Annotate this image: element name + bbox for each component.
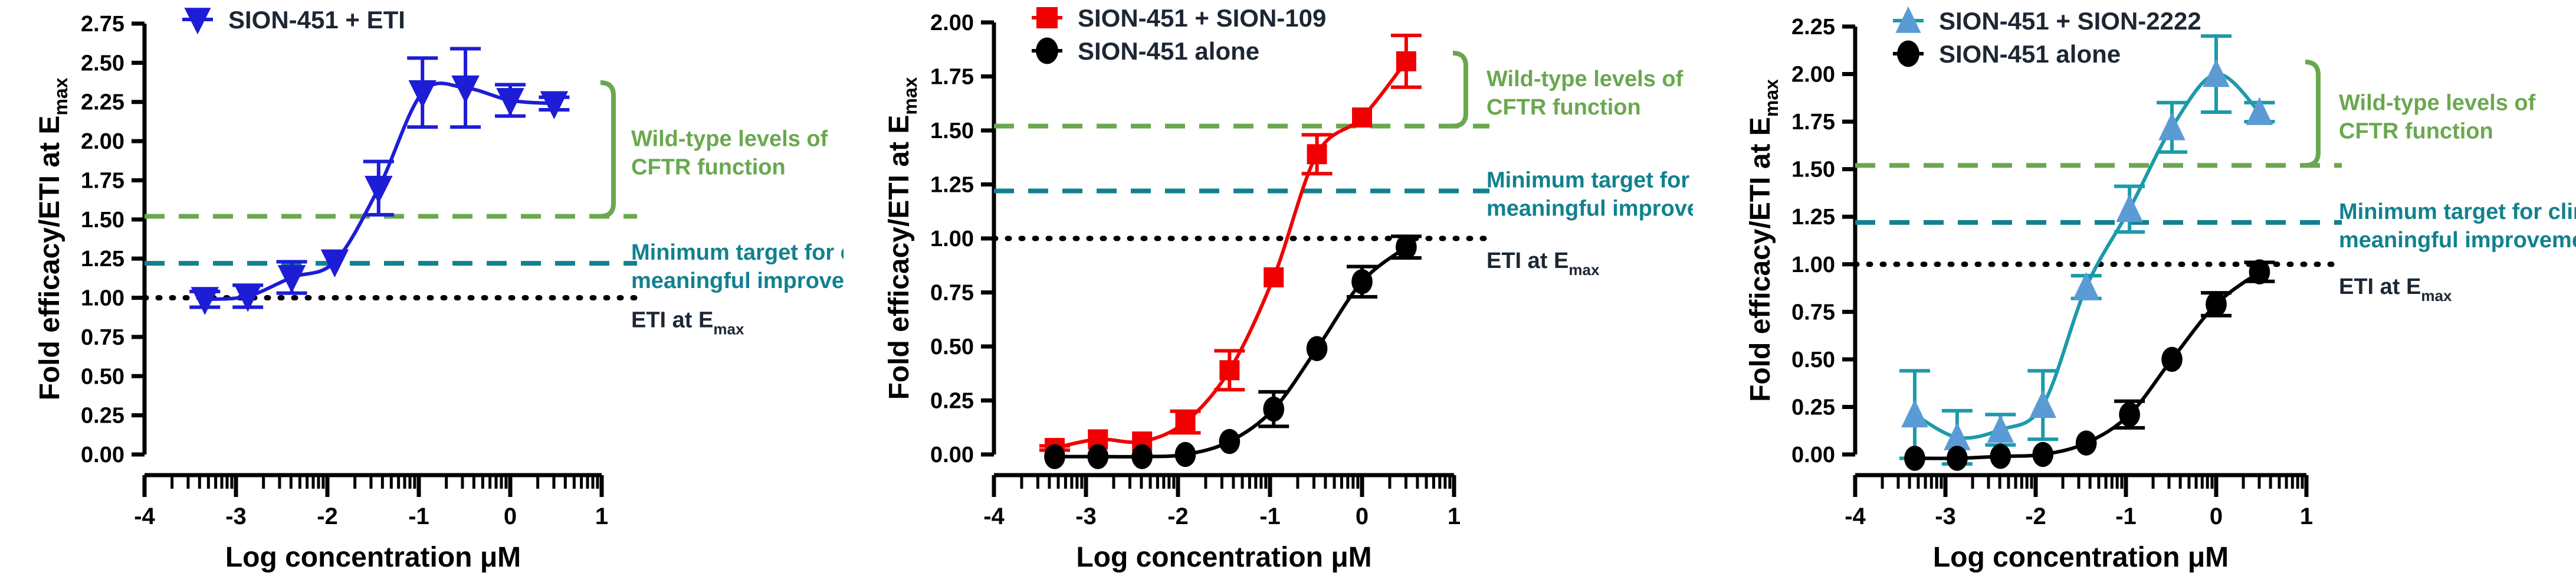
- annotation-eti-label: ETI at Emax: [2339, 274, 2452, 305]
- legend: SION-451 + SION-109SION-451 alone: [1032, 4, 1326, 65]
- y-tick-label: 1.00: [1791, 253, 1835, 277]
- annotation-eti-label: ETI at Emax: [631, 308, 744, 338]
- x-tick-label: -3: [225, 503, 247, 529]
- wildtype-bracket: [1453, 53, 1466, 126]
- y-tick-label: 2.00: [81, 129, 124, 154]
- y-tick-label: 1.75: [81, 168, 124, 193]
- annotation-eti-label: ETI at Emax: [1486, 248, 1600, 279]
- x-tick-label: 1: [595, 503, 608, 529]
- data-point: [1263, 397, 1284, 422]
- data-point: [365, 176, 393, 204]
- legend-label: SION-451 + SION-109: [1078, 4, 1326, 32]
- data-point: [1990, 444, 2011, 469]
- y-tick-label: 2.25: [81, 90, 124, 115]
- x-tick-label: -4: [1845, 503, 1866, 529]
- data-point: [2158, 112, 2186, 140]
- annotation-mintarget-line2: meaningful improvement to SoC: [2339, 228, 2576, 253]
- data-point: [278, 265, 306, 293]
- y-tick-label: 0.00: [1791, 443, 1835, 467]
- x-tick-label: -1: [2115, 503, 2137, 529]
- x-tick-label: -2: [2025, 503, 2046, 529]
- svg-text:Fold efficacy/ETI at Emax: Fold efficacy/ETI at Emax: [884, 77, 921, 400]
- annotation-wildtype-line2: CFTR function: [1486, 95, 1641, 120]
- y-tick-label: 0.25: [930, 389, 974, 414]
- data-point: [408, 80, 437, 109]
- y-tick-label: 2.25: [1791, 15, 1835, 40]
- data-point: [2116, 194, 2143, 223]
- annotation-wildtype-line2: CFTR function: [2339, 119, 2493, 144]
- x-axis: -4-3-2-101: [1845, 475, 2313, 529]
- chart-panel-2: 0.000.250.500.751.001.251.501.752.00-4-3…: [844, 0, 1693, 579]
- x-tick-label: -2: [317, 503, 338, 529]
- data-point: [191, 287, 219, 315]
- y-tick-label: 0.75: [930, 281, 974, 306]
- data-point: [1264, 267, 1284, 287]
- y-axis-title: Fold efficacy/ETI at Emax: [1745, 79, 1782, 402]
- y-tick-label: 0.50: [81, 364, 124, 389]
- annotations: Wild-type levels ofCFTR functionMinimum …: [1486, 67, 1693, 279]
- chart-panel-3: 0.000.250.500.751.001.251.501.752.002.25…: [1693, 0, 2576, 579]
- legend-label: SION-451 alone: [1078, 37, 1259, 65]
- data-point: [1904, 446, 1925, 471]
- x-axis-title-text: Log concentration μM: [1933, 542, 2229, 573]
- legend-label: SION-451 + ETI: [228, 6, 405, 34]
- figure-root: 0.000.250.500.751.001.251.501.752.002.25…: [0, 0, 2576, 579]
- x-axis-title: Log concentration μM: [1933, 542, 2229, 573]
- x-tick-label: -3: [1075, 503, 1097, 529]
- y-tick-label: 0.25: [1791, 395, 1835, 420]
- data-point: [1219, 360, 1239, 380]
- x-axis-title-text: Log concentration μM: [1076, 542, 1371, 573]
- data-point: [1131, 444, 1153, 469]
- annotation-wildtype-line1: Wild-type levels of: [1486, 67, 1684, 91]
- y-tick-label: 1.75: [1791, 110, 1835, 135]
- data-point: [1219, 429, 1241, 454]
- data-point: [1044, 444, 1065, 469]
- annotation-wildtype-line2: CFTR function: [631, 155, 786, 179]
- data-point: [1351, 269, 1373, 295]
- annotations: Wild-type levels ofCFTR functionMinimum …: [631, 126, 844, 338]
- x-tick-label: 0: [1356, 503, 1369, 529]
- series-1: [1039, 35, 1422, 458]
- y-axis-title: Fold efficacy/ETI at Emax: [34, 77, 71, 400]
- annotation-wildtype-line1: Wild-type levels of: [631, 126, 828, 151]
- legend-label: SION-451 alone: [1939, 40, 2121, 68]
- y-axis-title: Fold efficacy/ETI at Emax: [884, 77, 921, 400]
- legend-item[interactable]: SION-451 + SION-109: [1032, 4, 1326, 32]
- y-tick-label: 1.50: [81, 208, 124, 233]
- y-axis: 0.000.250.500.751.001.251.501.752.002.25: [1791, 15, 1855, 467]
- x-tick-label: -2: [1167, 503, 1189, 529]
- data-point: [2206, 292, 2227, 317]
- annotation-mintarget-line1: Minimum target for clinically: [2339, 199, 2576, 224]
- annotation-mintarget-line2: meaningful improvement to SoC: [631, 269, 844, 293]
- legend-item[interactable]: SION-451 + SION-2222: [1893, 6, 2201, 35]
- annotation-mintarget-line2: meaningful improvement to SoC: [1486, 196, 1693, 221]
- y-tick-label: 0.25: [81, 404, 124, 428]
- annotation-mintarget-line1: Minimum target for clinically: [1486, 168, 1693, 192]
- x-tick-label: -3: [1935, 503, 1956, 529]
- data-point: [2032, 442, 2053, 467]
- data-point: [2161, 347, 2183, 372]
- x-tick-label: 1: [1448, 503, 1461, 529]
- data-point: [2119, 402, 2140, 427]
- data-point: [2203, 59, 2230, 87]
- data-point: [2076, 430, 2097, 456]
- x-tick-label: 1: [2300, 503, 2313, 529]
- data-point: [2249, 259, 2270, 284]
- y-tick-label: 1.75: [930, 65, 974, 90]
- series-1: [1899, 36, 2275, 464]
- data-point: [1175, 442, 1196, 467]
- y-tick-label: 0.50: [1791, 348, 1835, 372]
- y-axis: 0.000.250.500.751.001.251.501.752.002.25…: [81, 12, 145, 467]
- x-axis-title: Log concentration μM: [1076, 542, 1371, 573]
- y-tick-label: 1.50: [930, 119, 974, 143]
- x-axis-title: Log concentration μM: [225, 542, 521, 573]
- y-tick-label: 2.50: [81, 51, 124, 76]
- x-tick-label: -1: [408, 503, 429, 529]
- legend: SION-451 + SION-2222SION-451 alone: [1893, 6, 2201, 68]
- data-point: [1175, 412, 1195, 432]
- wildtype-bracket: [600, 83, 613, 217]
- y-tick-label: 1.50: [1791, 158, 1835, 182]
- y-axis: 0.000.250.500.751.001.251.501.752.00: [930, 11, 994, 467]
- annotations: Wild-type levels ofCFTR functionMinimum …: [2339, 91, 2576, 305]
- legend-item[interactable]: SION-451 alone: [1893, 40, 2121, 68]
- svg-text:Fold efficacy/ETI at Emax: Fold efficacy/ETI at Emax: [1745, 79, 1782, 402]
- data-point: [1396, 234, 1417, 260]
- annotation-wildtype-line1: Wild-type levels of: [2339, 91, 2536, 116]
- y-tick-label: 0.75: [81, 325, 124, 350]
- y-tick-label: 1.00: [81, 286, 124, 311]
- y-tick-label: 2.75: [81, 12, 124, 37]
- y-tick-label: 0.50: [930, 335, 974, 359]
- legend-label: SION-451 + SION-2222: [1939, 7, 2201, 35]
- y-tick-label: 0.75: [1791, 300, 1835, 325]
- data-point: [1901, 400, 1928, 428]
- data-point: [540, 91, 569, 119]
- series-1: [189, 48, 569, 315]
- y-tick-label: 1.25: [1791, 205, 1835, 230]
- legend-item[interactable]: SION-451 + ETI: [182, 6, 405, 34]
- reference-lines: [145, 217, 637, 298]
- legend-marker: [1036, 38, 1058, 64]
- reference-lines: [994, 126, 1489, 238]
- y-tick-label: 0.00: [81, 443, 124, 467]
- data-point: [1307, 336, 1328, 361]
- legend-marker: [1897, 41, 1919, 67]
- x-tick-label: -4: [983, 503, 1005, 529]
- x-tick-label: 0: [2210, 503, 2223, 529]
- reference-lines: [1855, 165, 2342, 264]
- data-point: [2029, 390, 2056, 418]
- x-axis: -4-3-2-101: [134, 475, 608, 529]
- data-point: [1396, 51, 1416, 71]
- data-point: [1087, 444, 1108, 469]
- x-tick-label: -1: [1259, 503, 1281, 529]
- data-point: [1352, 107, 1372, 127]
- annotation-mintarget-line1: Minimum target for clinically: [631, 240, 844, 265]
- data-point: [1307, 144, 1327, 164]
- chart-panel-1: 0.000.250.500.751.001.251.501.752.002.25…: [0, 0, 844, 579]
- legend: SION-451 + ETI: [182, 6, 405, 34]
- y-tick-label: 2.00: [1791, 63, 1835, 87]
- y-tick-label: 1.25: [930, 173, 974, 198]
- y-tick-label: 1.00: [930, 227, 974, 251]
- data-point: [1947, 446, 1968, 471]
- y-tick-label: 0.00: [930, 443, 974, 467]
- x-tick-label: -4: [134, 503, 155, 529]
- legend-item[interactable]: SION-451 alone: [1032, 37, 1259, 65]
- x-axis: -4-3-2-101: [983, 475, 1461, 529]
- svg-text:Fold efficacy/ETI at Emax: Fold efficacy/ETI at Emax: [34, 77, 71, 400]
- legend-marker: [1036, 7, 1058, 28]
- y-tick-label: 1.25: [81, 247, 124, 271]
- x-axis-title-text: Log concentration μM: [225, 542, 521, 573]
- y-tick-label: 2.00: [930, 11, 974, 35]
- wildtype-bracket: [2305, 62, 2318, 165]
- x-tick-label: 0: [504, 503, 517, 529]
